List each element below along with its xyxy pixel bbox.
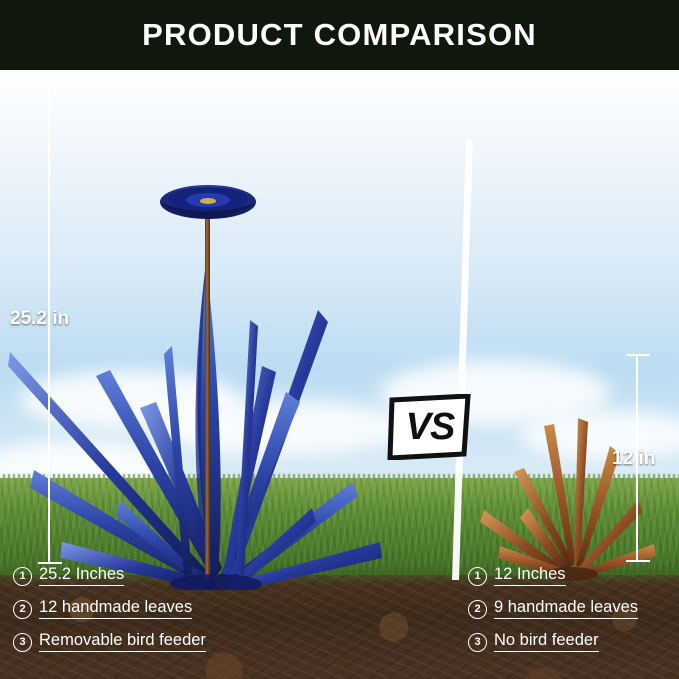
right-feature-list: 1 12 Inches 2 9 handmade leaves 3 No bir… bbox=[468, 565, 638, 664]
right-measurement-annotation: 12 in bbox=[625, 348, 679, 573]
vs-label: VS bbox=[386, 394, 474, 460]
list-item: 2 9 handmade leaves bbox=[468, 598, 638, 620]
feature-number-badge: 1 bbox=[468, 567, 487, 586]
list-item: 3 Removable bird feeder bbox=[13, 631, 206, 653]
feature-text: No bird feeder bbox=[494, 632, 599, 652]
list-item: 2 12 handmade leaves bbox=[13, 598, 206, 620]
feature-number-badge: 2 bbox=[13, 600, 32, 619]
feature-text: 9 handmade leaves bbox=[494, 599, 638, 619]
feature-text: 12 handmade leaves bbox=[39, 599, 192, 619]
feature-number-badge: 1 bbox=[13, 567, 32, 586]
vs-badge: VS bbox=[386, 394, 474, 460]
left-measurement-label: 25.2 in bbox=[10, 308, 69, 330]
list-item: 1 25.2 Inches bbox=[13, 565, 206, 587]
left-feature-list: 1 25.2 Inches 2 12 handmade leaves 3 Rem… bbox=[13, 565, 206, 664]
list-item: 3 No bird feeder bbox=[468, 631, 638, 653]
feature-text: Removable bird feeder bbox=[39, 632, 206, 652]
left-measurement-annotation: 25.2 in bbox=[38, 78, 118, 568]
bird-feeder-dish bbox=[160, 185, 256, 219]
feature-text: 25.2 Inches bbox=[39, 566, 124, 586]
page-title: PRODUCT COMPARISON bbox=[142, 17, 537, 53]
header-banner: PRODUCT COMPARISON bbox=[0, 0, 679, 70]
product-comparison-image: PRODUCT COMPARISON bbox=[0, 0, 679, 679]
feature-number-badge: 3 bbox=[13, 633, 32, 652]
feature-number-badge: 2 bbox=[468, 600, 487, 619]
leaf-group-center bbox=[164, 262, 258, 576]
feature-number-badge: 3 bbox=[468, 633, 487, 652]
feature-text: 12 Inches bbox=[494, 566, 566, 586]
feeder-stake bbox=[205, 210, 210, 580]
list-item: 1 12 Inches bbox=[468, 565, 638, 587]
right-measurement-label: 12 in bbox=[612, 448, 655, 470]
